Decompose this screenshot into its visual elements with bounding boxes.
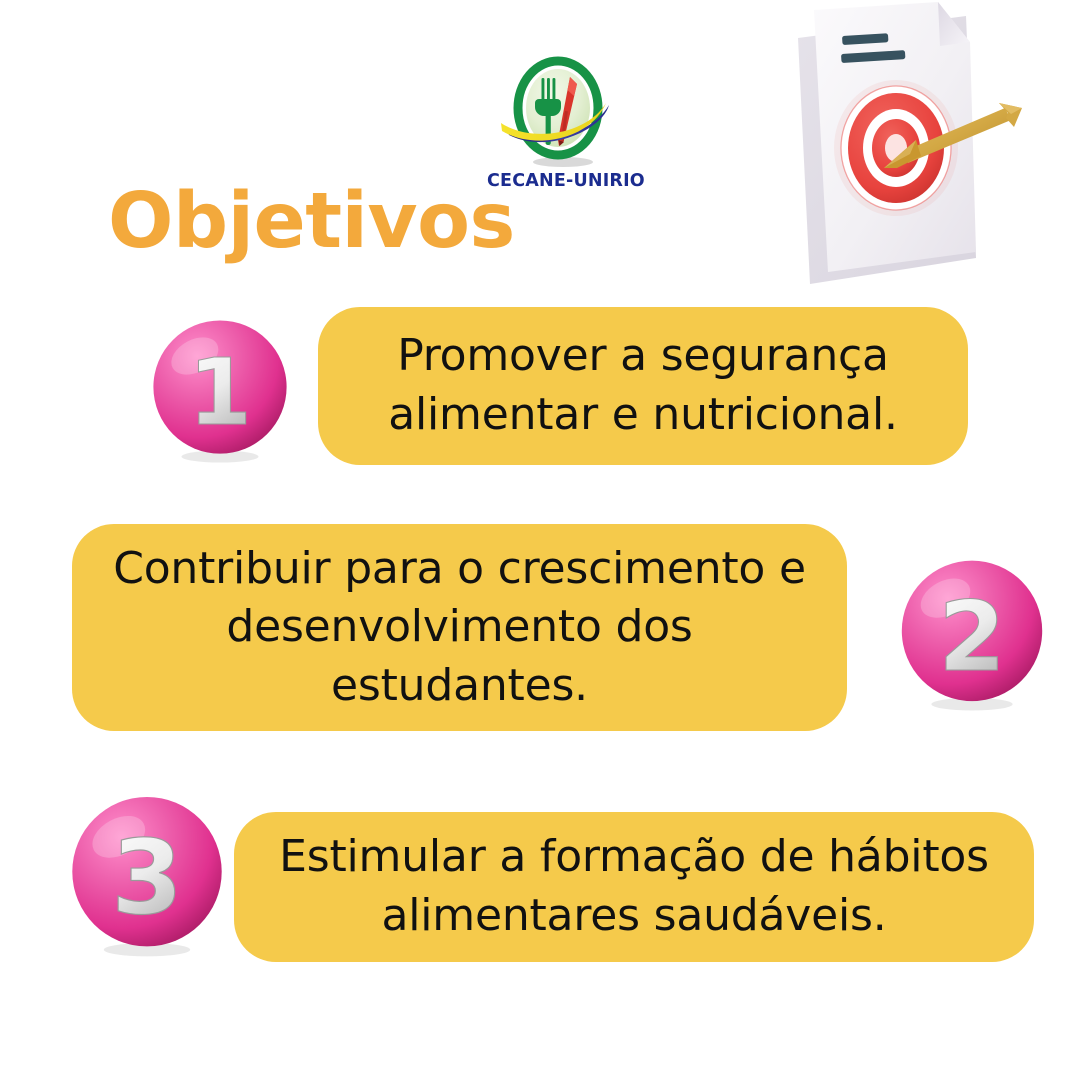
objective-pill-1[interactable]: Promover a segurança alimentar e nutrici… [318, 307, 968, 465]
objective-badge-2[interactable]: 2 [894, 556, 1050, 712]
document-target-arrow-icon [770, 0, 1070, 296]
objective-pill-2[interactable]: Contribuir para o crescimento e desenvol… [72, 524, 847, 731]
objective-text-1: Promover a segurança alimentar e nutrici… [344, 327, 942, 444]
objective-pill-3[interactable]: Estimular a formação de hábitos alimenta… [234, 812, 1034, 962]
badge-number-1: 1 [188, 339, 252, 446]
logo-mark-icon [487, 55, 637, 173]
page-title: Objetivos [108, 183, 515, 260]
objective-badge-1[interactable]: 1 [146, 316, 294, 464]
objective-text-3: Estimular a formação de hábitos alimenta… [260, 828, 1008, 945]
objective-badge-3[interactable]: 3 [64, 792, 230, 958]
slide-canvas: CECANE-UNIRIO Objetivos [0, 0, 1080, 1080]
badge-number-2: 2 [938, 580, 1005, 693]
objective-text-2: Contribuir para o crescimento e desenvol… [98, 540, 821, 716]
badge-number-3: 3 [111, 818, 183, 938]
